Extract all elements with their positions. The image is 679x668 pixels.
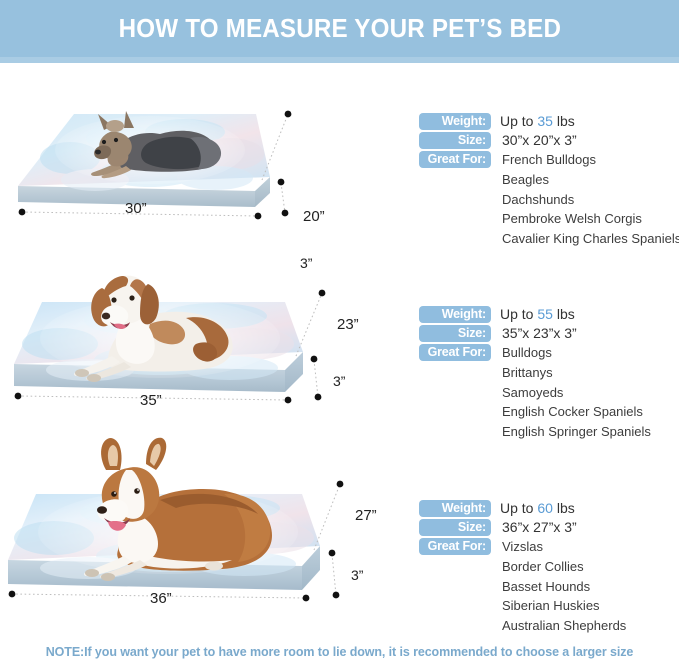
dim-label-width-small: 20”: [303, 208, 325, 225]
breed-item: Basset Hounds: [502, 577, 669, 597]
value-size: 30”x 20”x 3”: [491, 132, 577, 149]
info-line-great-for: Great For: French Bulldogs: [419, 151, 669, 168]
breed-item: French Bulldogs: [491, 151, 596, 168]
breed-item: Bulldogs: [491, 344, 552, 361]
dim-label-height-large: 3”: [351, 567, 363, 583]
weight-unit: lbs: [557, 113, 575, 129]
info-line-size: Size: 36”x 27”x 3”: [419, 519, 669, 536]
info-line-weight: Weight: Up to 35 lbs: [419, 113, 669, 130]
weight-value: 35: [537, 113, 553, 129]
header-banner-strip: [0, 57, 679, 63]
info-line-size: Size: 30”x 20”x 3”: [419, 132, 669, 149]
info-line-weight: Weight: Up to 60 lbs: [419, 500, 669, 517]
page-title: HOW TO MEASURE YOUR PET’S BED: [118, 13, 560, 44]
bed-row-medium: 23” 3” 35” Weight: Up to 55 lbs Size: 35…: [0, 240, 679, 430]
value-size: 36”x 27”x 3”: [491, 519, 577, 536]
weight-unit: lbs: [557, 500, 575, 516]
dim-label-length-small: 30”: [125, 200, 147, 217]
dim-label-length-medium: 35”: [140, 392, 162, 409]
value-weight: Up to 35 lbs: [491, 113, 575, 130]
label-size: Size:: [419, 519, 491, 536]
breed-item: Samoyeds: [502, 383, 669, 403]
footer-note: NOTE:If you want your pet to have more r…: [0, 645, 679, 659]
label-weight: Weight:: [419, 306, 491, 323]
breed-item: Vizslas: [491, 538, 543, 555]
dim-label-length-large: 36”: [150, 590, 172, 607]
dim-label-height-medium: 3”: [333, 373, 345, 389]
breed-item: Pembroke Welsh Corgis: [502, 209, 669, 229]
weight-value: 60: [537, 500, 553, 516]
info-panel-large: Weight: Up to 60 lbs Size: 36”x 27”x 3” …: [419, 500, 669, 635]
value-weight: Up to 60 lbs: [491, 500, 575, 517]
label-great-for: Great For:: [419, 538, 491, 555]
label-weight: Weight:: [419, 113, 491, 130]
weight-prefix: Up to: [500, 113, 533, 129]
label-great-for: Great For:: [419, 151, 491, 168]
bed-row-small: 20” 3” 30” Weight: Up to 35 lbs Size: 30…: [0, 80, 679, 240]
info-line-great-for: Great For: Bulldogs: [419, 344, 669, 361]
weight-value: 55: [537, 306, 553, 322]
breed-item: Siberian Huskies: [502, 596, 669, 616]
breed-item: Dachshunds: [502, 190, 669, 210]
breed-item: Brittanys: [502, 363, 669, 383]
info-line-great-for: Great For: Vizslas: [419, 538, 669, 555]
header-banner: HOW TO MEASURE YOUR PET’S BED: [0, 0, 679, 57]
label-size: Size:: [419, 132, 491, 149]
label-size: Size:: [419, 325, 491, 342]
value-size: 35”x 23”x 3”: [491, 325, 577, 342]
info-line-size: Size: 35”x 23”x 3”: [419, 325, 669, 342]
info-panel-medium: Weight: Up to 55 lbs Size: 35”x 23”x 3” …: [419, 306, 669, 441]
value-weight: Up to 55 lbs: [491, 306, 575, 323]
dim-label-width-medium: 23”: [337, 316, 359, 333]
label-great-for: Great For:: [419, 344, 491, 361]
bed-illustration-small: [0, 80, 400, 240]
breed-item: English Cocker Spaniels: [502, 402, 669, 422]
breed-item: Beagles: [502, 170, 669, 190]
breed-list: Border Collies Basset Hounds Siberian Hu…: [419, 557, 669, 635]
weight-prefix: Up to: [500, 306, 533, 322]
breed-item: Border Collies: [502, 557, 669, 577]
bed-illustration-medium: [0, 240, 400, 430]
bed-row-large: 27” 3” 36” Weight: Up to 60 lbs Size: 36…: [0, 428, 679, 628]
weight-unit: lbs: [557, 306, 575, 322]
info-line-weight: Weight: Up to 55 lbs: [419, 306, 669, 323]
label-weight: Weight:: [419, 500, 491, 517]
bed-illustration-large: [0, 428, 400, 628]
breed-list: Beagles Dachshunds Pembroke Welsh Corgis…: [419, 170, 669, 248]
weight-prefix: Up to: [500, 500, 533, 516]
info-panel-small: Weight: Up to 35 lbs Size: 30”x 20”x 3” …: [419, 113, 669, 248]
breed-item: Australian Shepherds: [502, 616, 669, 636]
dim-label-width-large: 27”: [355, 507, 377, 524]
